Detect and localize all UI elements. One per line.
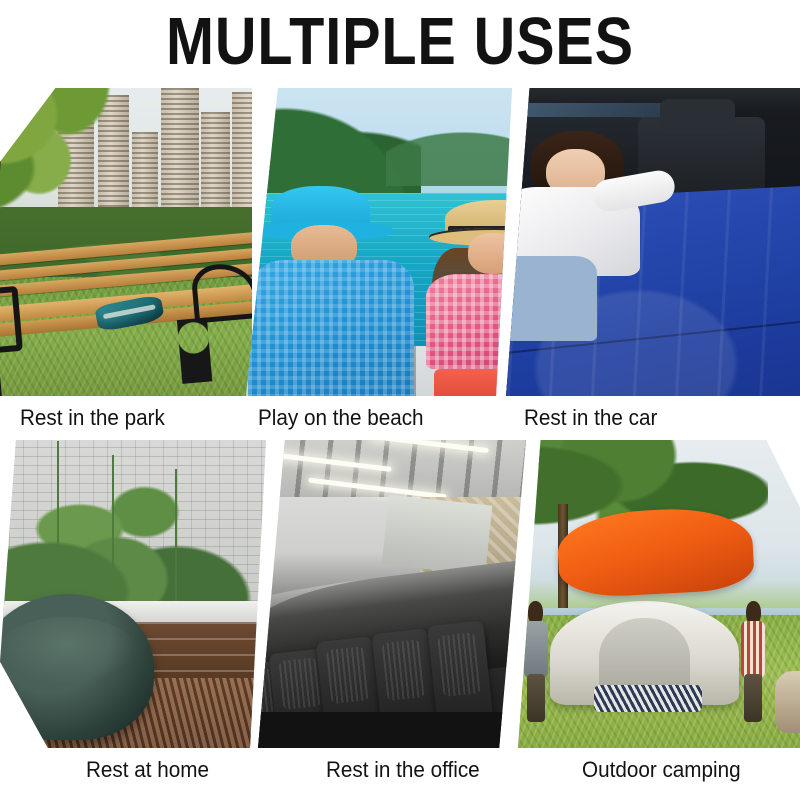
camp-gear [594,685,703,713]
page-title: MULTIPLE USES [56,6,744,78]
far-headland [386,124,512,187]
home-scene [0,440,266,748]
caption-row-top: Rest in the park Play on the beach Rest … [0,396,800,440]
caption-camping: Outdoor camping [582,757,741,783]
person-resting [506,131,690,333]
tile-camping[interactable] [518,440,800,748]
tile-office[interactable] [258,440,526,748]
caption-beach: Play on the beach [258,405,424,431]
park-scene [0,88,252,396]
camp-bag [775,671,800,734]
person-camper-right [739,601,768,719]
collage-row-bottom [0,440,800,748]
multiple-uses-infographic: MULTIPLE USES [0,0,800,800]
caption-park: Rest in the park [20,405,165,431]
projector-screen [382,495,493,575]
car-scene [506,88,800,396]
beach-scene [246,88,512,396]
headrest [660,99,735,134]
tile-home[interactable] [0,440,266,748]
caption-car: Rest in the car [524,405,657,431]
tile-park[interactable] [0,88,252,396]
office-floor [258,712,526,748]
camping-scene [518,440,800,748]
person-camper-left [521,601,550,719]
tile-car[interactable] [506,88,800,396]
person-man [248,186,414,396]
caption-office: Rest in the office [326,757,480,783]
collage-row-top [0,88,800,396]
person-woman [421,200,512,396]
caption-row-bottom: Rest at home Rest in the office Outdoor … [0,748,800,792]
office-scene [258,440,526,748]
tile-beach[interactable] [246,88,512,396]
use-case-collage: Rest in the park Play on the beach Rest … [0,88,800,800]
caption-home: Rest at home [86,757,209,783]
park-bench [0,229,252,373]
tree-canopy [0,88,146,242]
